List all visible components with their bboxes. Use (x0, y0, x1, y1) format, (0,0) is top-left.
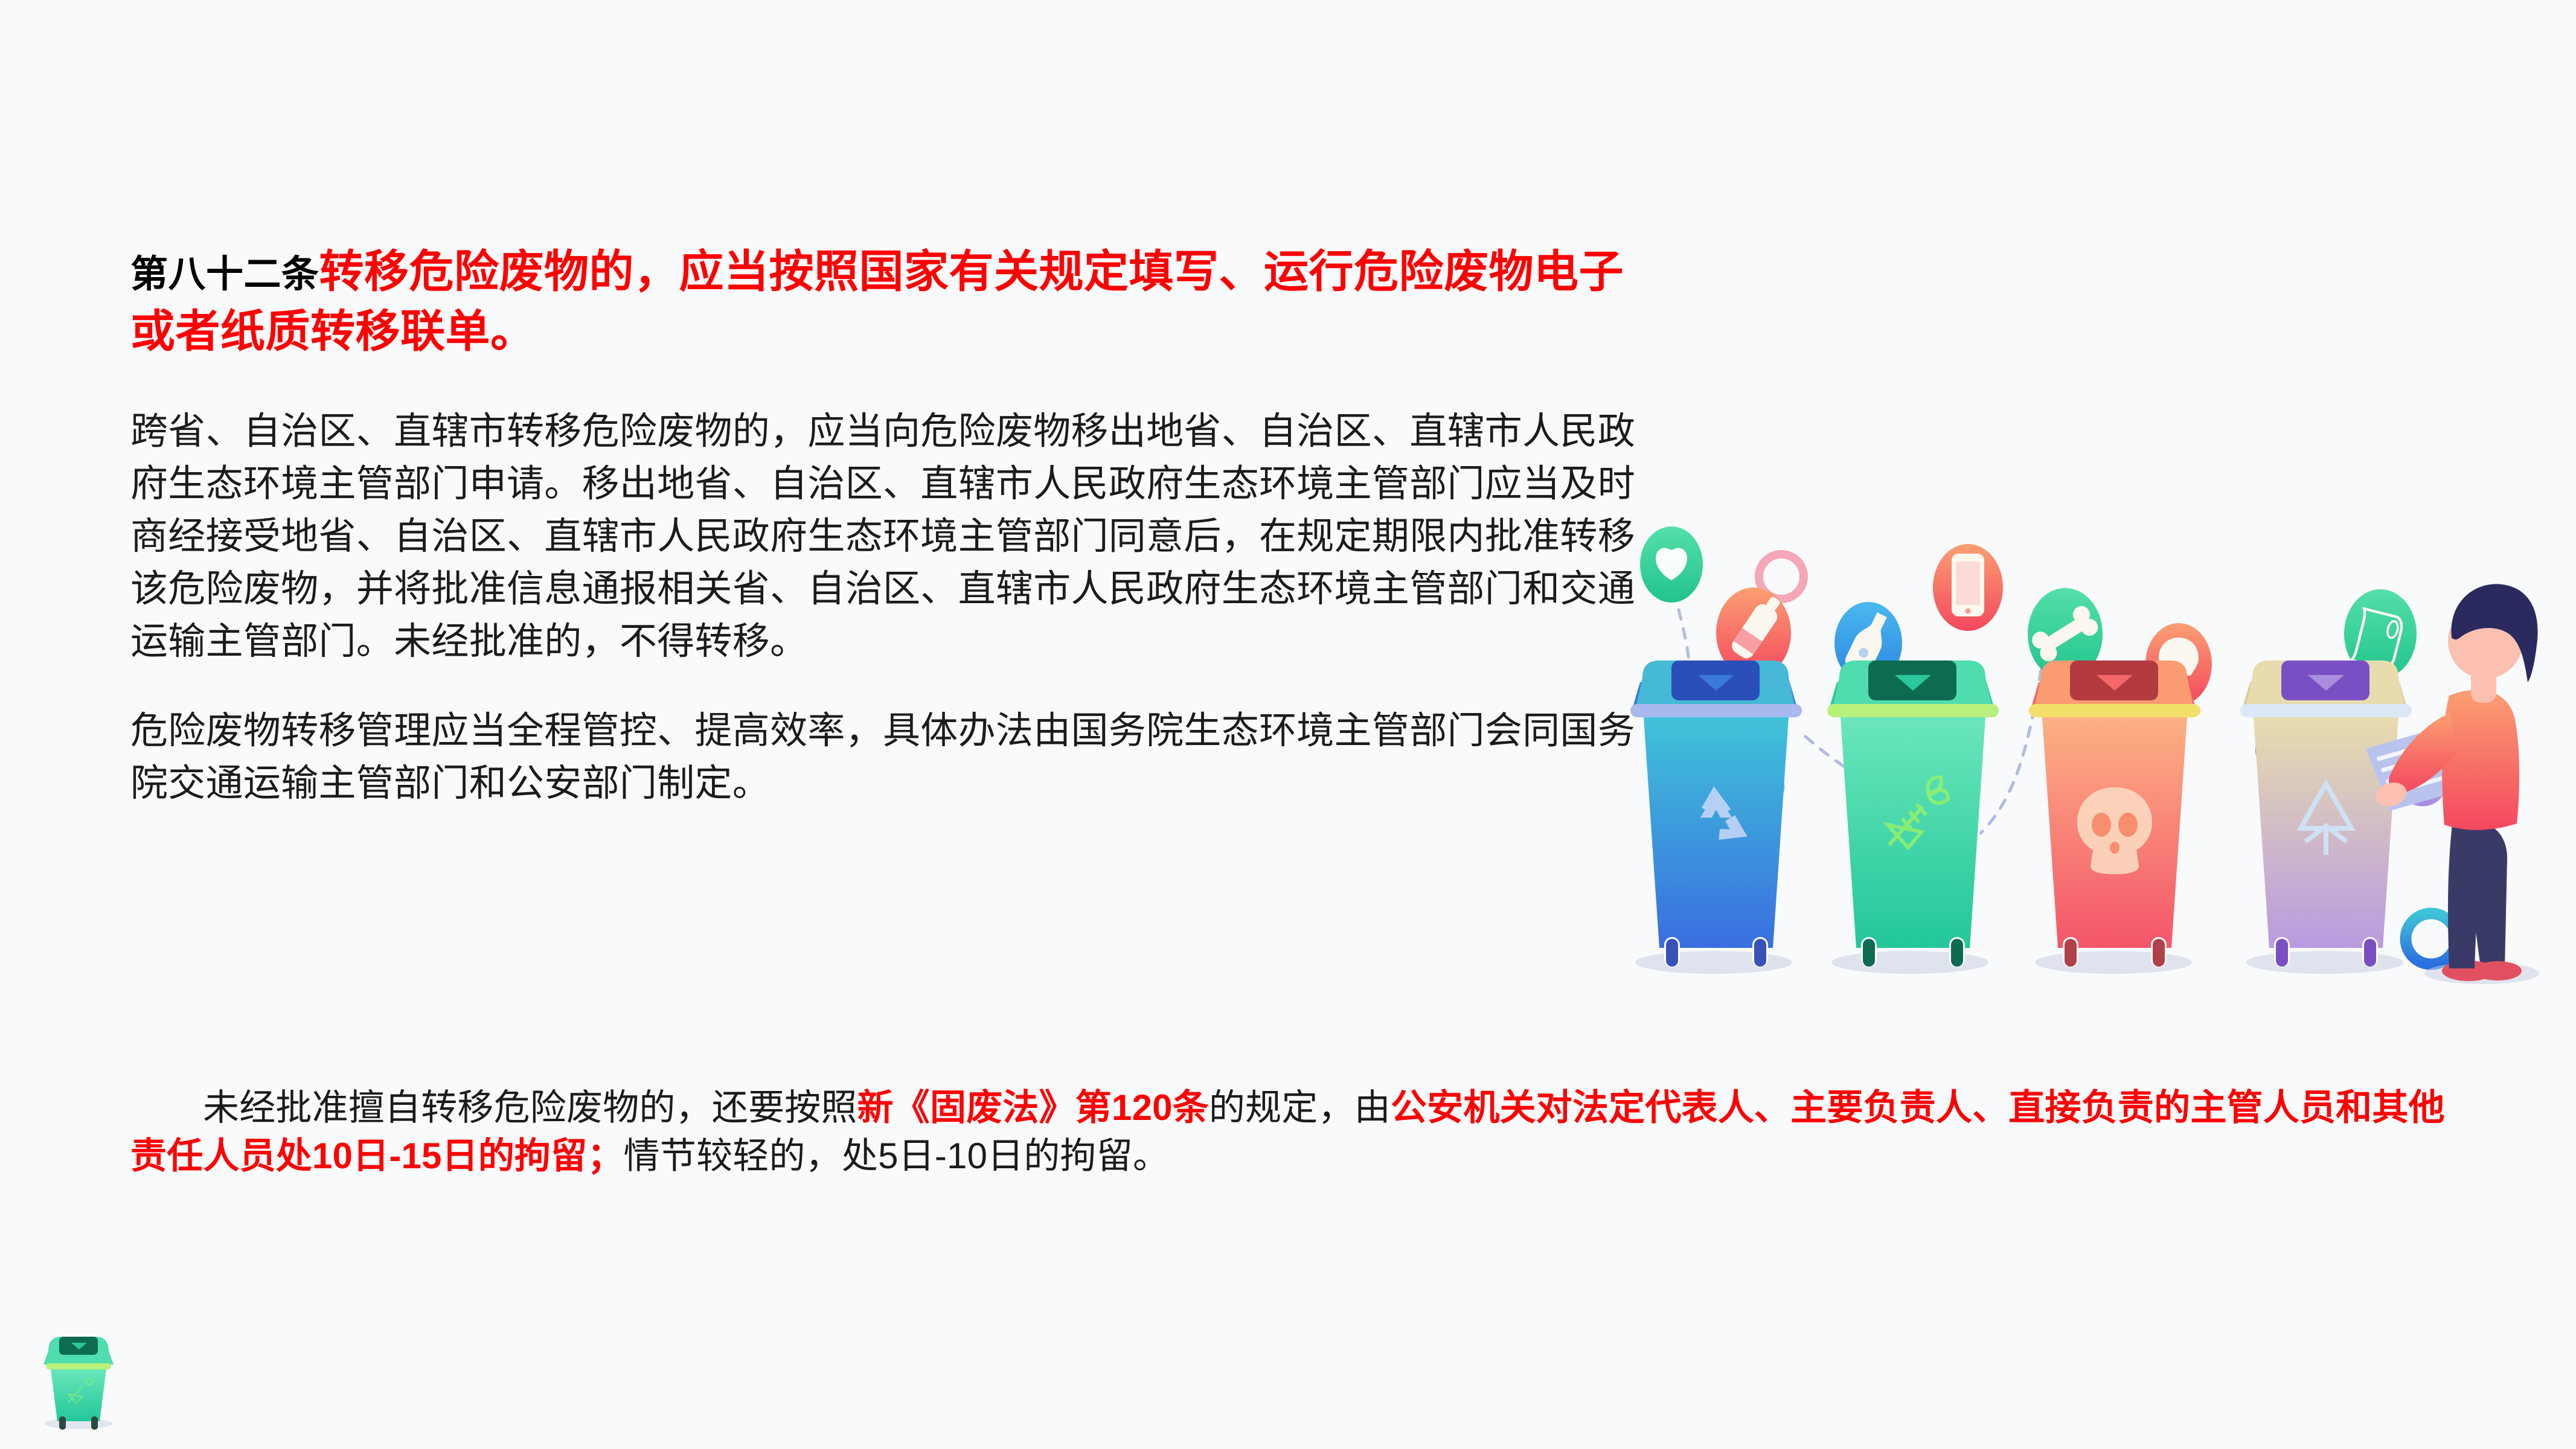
penalty-seg-3: 的规定，由 (1209, 1087, 1391, 1128)
penalty-seg-5: 情节较轻的，处5日-10日的拘留。 (624, 1136, 1170, 1176)
article-title-red: 转移危险废物的，应当按照国家有关规定填写、运行危险废物电子或者纸质转移联单。 (130, 246, 1624, 356)
paragraph-interprovincial-transfer: 跨省、自治区、直辖市转移危险废物的，应当向危险废物移出地省、自治区、直辖市人民政… (130, 406, 1652, 668)
text-column: 第八十二条转移危险废物的，应当按照国家有关规定填写、运行危险废物电子或者纸质转移… (130, 241, 1652, 848)
article-number: 第八十二条 (130, 254, 319, 295)
waste-sorting-illustration (1606, 459, 2576, 990)
green-trash-bin-decor (30, 1316, 127, 1437)
penalty-seg-2-law-ref: 新《固废法》第120条 (857, 1087, 1209, 1128)
penalty-paragraph: 未经批准擅自转移危险废物的，还要按照新《固废法》第120条的规定，由公安机关对法… (130, 1084, 2449, 1180)
article-title: 第八十二条转移危险废物的，应当按照国家有关规定填写、运行危险废物电子或者纸质转移… (130, 241, 1652, 361)
slide-canvas: 第八十二条转移危险废物的，应当按照国家有关规定填写、运行危险废物电子或者纸质转移… (0, 0, 2576, 1449)
penalty-seg-1: 未经批准擅自转移危险废物的，还要按照 (203, 1087, 857, 1128)
paragraph-transfer-management: 危险废物转移管理应当全程管控、提高效率，具体办法由国务院生态环境主管部门会同国务… (130, 705, 1652, 810)
